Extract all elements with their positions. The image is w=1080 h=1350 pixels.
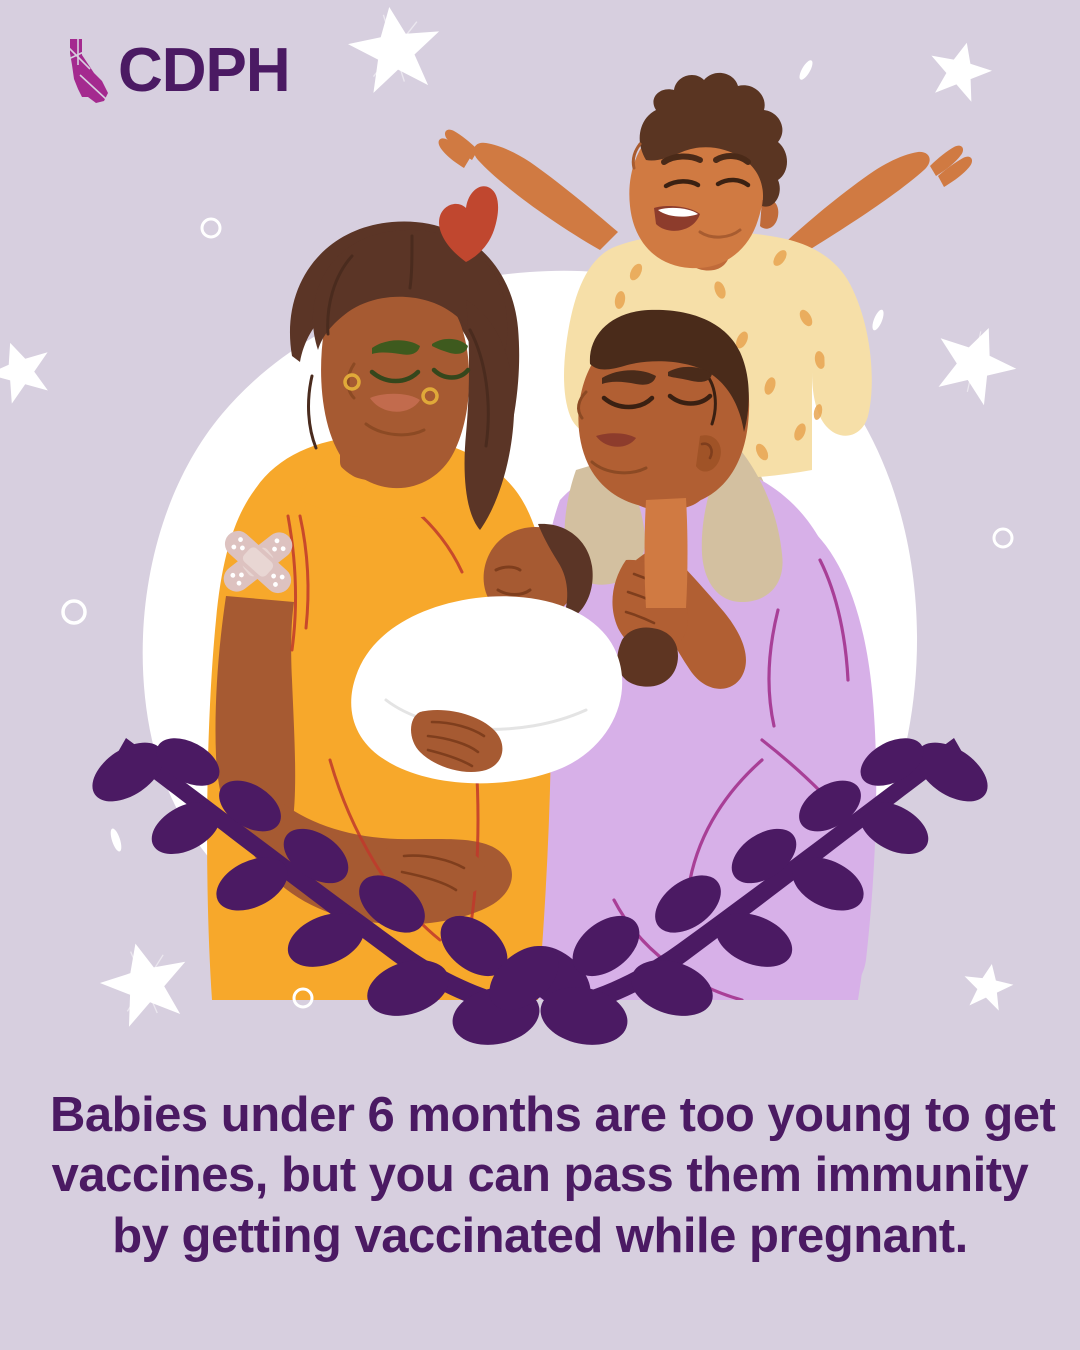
- cdph-logo-text: CDPH: [118, 40, 290, 102]
- caption-line-2: vaccines, but you can pass them immunity: [50, 1145, 1030, 1205]
- caption-line-1: Babies under 6 months are too young to g…: [50, 1085, 1030, 1145]
- poster-canvas: CDPH Babies under 6 months are too young…: [0, 0, 1080, 1350]
- caption-line-3: by getting vaccinated while pregnant.: [50, 1206, 1030, 1266]
- california-state-outline-icon: [60, 35, 116, 107]
- cdph-logo[interactable]: CDPH: [60, 35, 290, 107]
- caption-text: Babies under 6 months are too young to g…: [50, 1085, 1030, 1266]
